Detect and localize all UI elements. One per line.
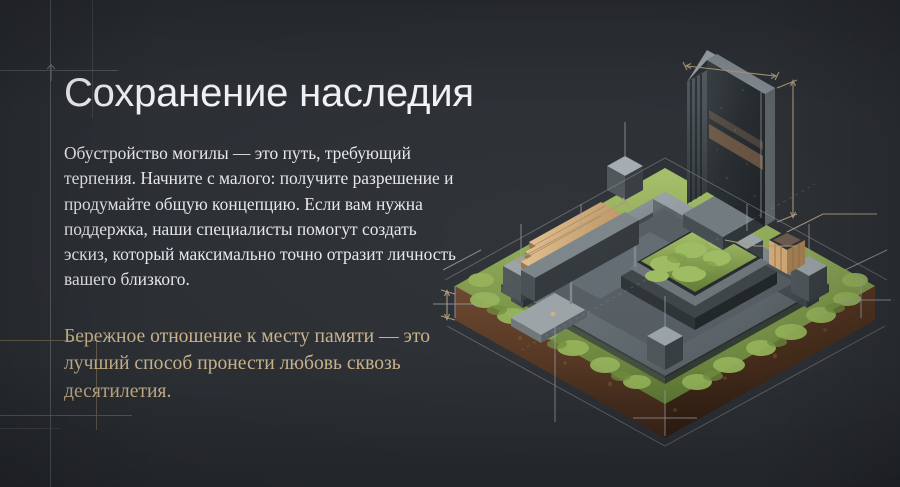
slide-root: Сохранение наследия Обустройство могилы …: [0, 0, 900, 487]
guide-horizontal-bottom: [0, 428, 60, 429]
guide-vertical-left: [50, 0, 51, 487]
memorial-render: [425, 18, 900, 478]
text-column: Сохранение наследия Обустройство могилы …: [64, 72, 484, 406]
accent-paragraph: Бережное отношение к месту памяти — это …: [64, 323, 484, 406]
granite-stele: [683, 50, 775, 250]
guide-arrow-tick: [44, 62, 58, 82]
guide-horizontal-accent-bottom: [0, 415, 132, 416]
page-title: Сохранение наследия: [64, 72, 484, 115]
body-paragraph: Обустройство могилы — это путь, требующи…: [64, 141, 464, 292]
